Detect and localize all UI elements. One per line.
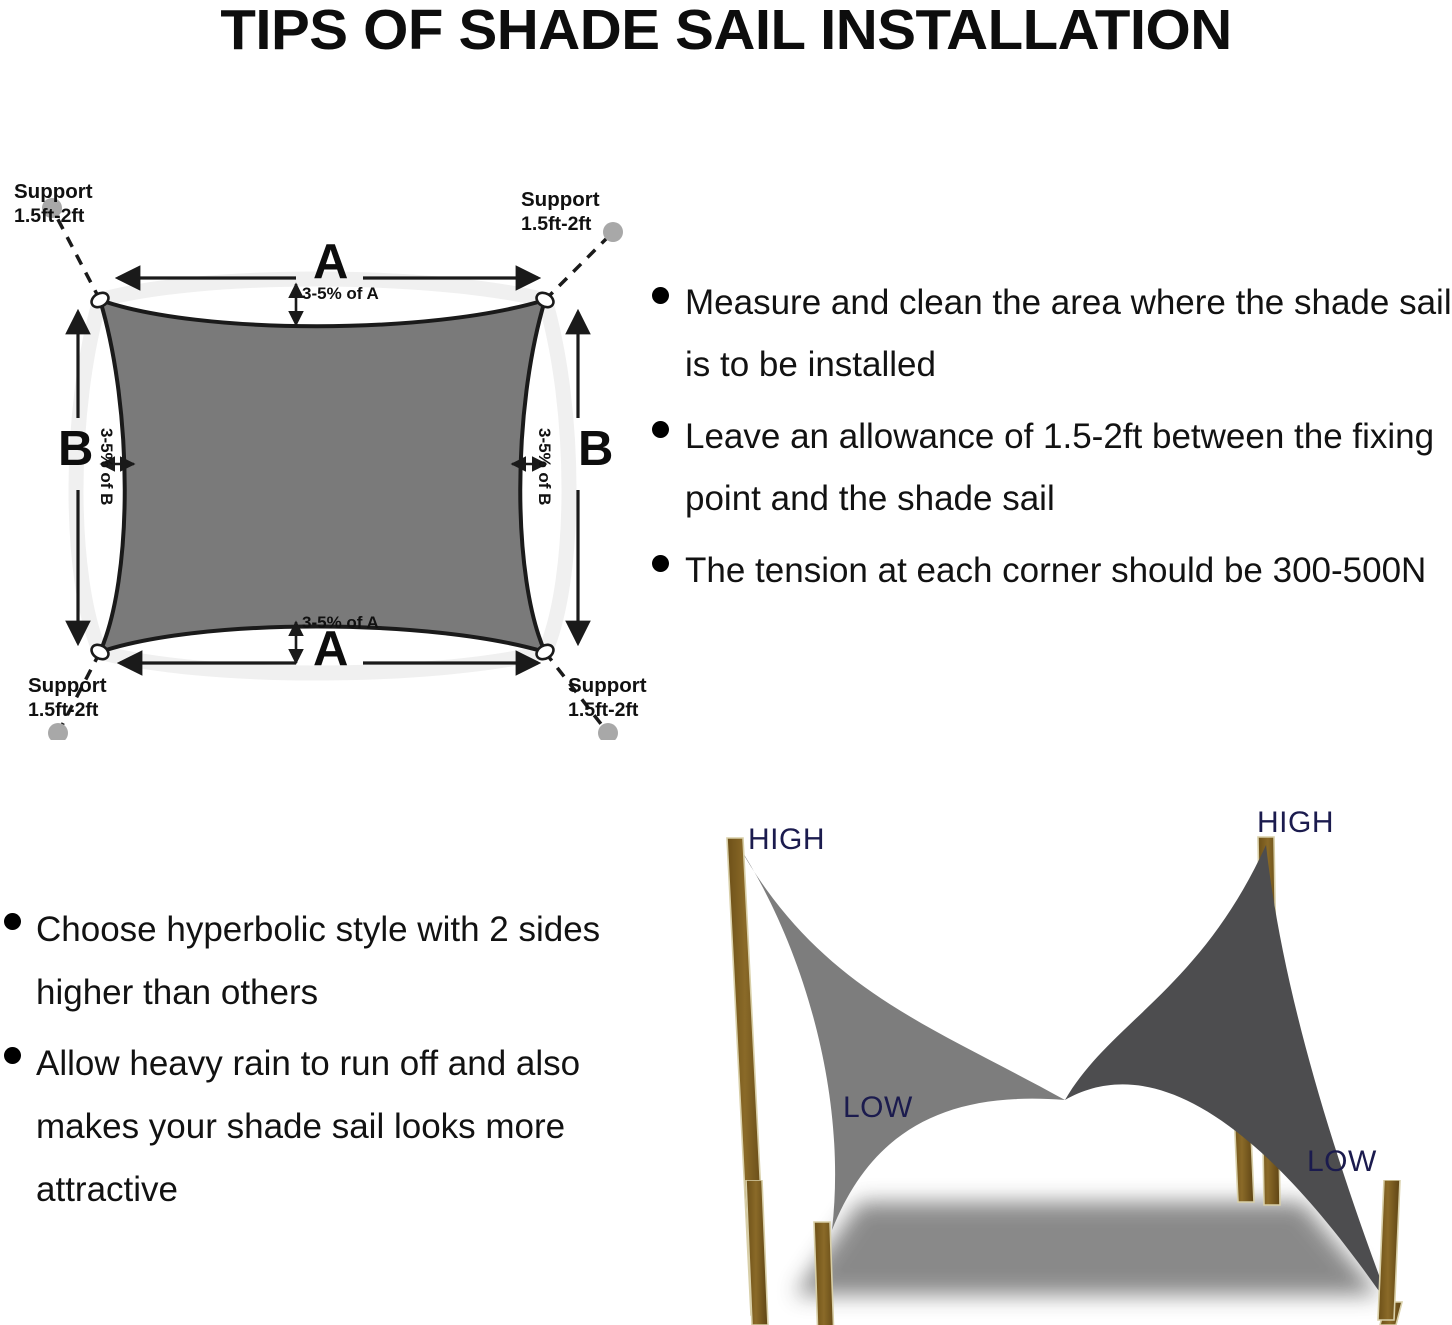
- dim-letter-b-right: B: [578, 425, 613, 474]
- list-item: Leave an allowance of 1.5-2ft between th…: [652, 406, 1452, 530]
- curve-note-bottom: 3-5% of A: [302, 614, 379, 632]
- list-item: Measure and clean the area where the sha…: [652, 272, 1452, 396]
- list-item: Allow heavy rain to run off and also mak…: [4, 1032, 634, 1221]
- hyperbolic-posts-extension: [680, 1180, 1452, 1325]
- support-label-line1: Support: [568, 674, 647, 697]
- tip-text: The tension at each corner should be 300…: [685, 540, 1426, 602]
- installation-tips-list: Measure and clean the area where the sha…: [652, 272, 1452, 612]
- curve-note-right: 3-5% of B: [535, 428, 553, 505]
- support-dot-top-right: [603, 222, 623, 242]
- bullet-icon: [652, 421, 669, 438]
- support-dot-bottom-left: [48, 723, 68, 740]
- sail-body: [100, 300, 545, 652]
- sail-panel-light: [738, 845, 1065, 1230]
- label-high-right: HIGH: [1257, 807, 1334, 839]
- bullet-icon: [652, 287, 669, 304]
- support-label-top-right: Support 1.5ft-2ft: [521, 188, 600, 236]
- dim-letter-a-top: A: [313, 238, 348, 287]
- support-label-line1: Support: [28, 674, 107, 697]
- hyperbolic-tips-list: Choose hyperbolic style with 2 sides hig…: [4, 898, 634, 1229]
- support-label-line2: 1.5ft-2ft: [568, 698, 647, 722]
- tip-text: Leave an allowance of 1.5-2ft between th…: [685, 406, 1452, 530]
- page-title: TIPS OF SHADE SAIL INSTALLATION: [0, 0, 1452, 62]
- support-label-line1: Support: [521, 188, 600, 211]
- support-label-line2: 1.5ft-2ft: [28, 698, 107, 722]
- post-high-left-lower: [746, 1180, 768, 1325]
- list-item: Choose hyperbolic style with 2 sides hig…: [4, 898, 634, 1024]
- bullet-icon: [4, 1047, 21, 1064]
- support-label-line1: Support: [14, 180, 93, 203]
- curve-note-top: 3-5% of A: [302, 285, 379, 303]
- dim-letter-a-bottom: A: [313, 625, 348, 674]
- tip-text: Choose hyperbolic style with 2 sides hig…: [36, 898, 634, 1024]
- label-low-right: LOW: [1307, 1146, 1377, 1178]
- support-label-line2: 1.5ft-2ft: [521, 212, 600, 236]
- post-low-right-lower: [1378, 1180, 1400, 1320]
- support-label-bottom-right: Support 1.5ft-2ft: [568, 674, 647, 722]
- list-item: The tension at each corner should be 300…: [652, 540, 1452, 602]
- tether-top-right: [545, 232, 613, 300]
- curve-note-left: 3-5% of B: [97, 428, 115, 505]
- label-low-left: LOW: [843, 1092, 913, 1124]
- bullet-icon: [4, 913, 21, 930]
- tip-text: Measure and clean the area where the sha…: [685, 272, 1452, 396]
- dim-letter-b-left: B: [58, 425, 93, 474]
- bullet-icon: [652, 555, 669, 572]
- label-high-left: HIGH: [748, 824, 825, 856]
- support-label-line2: 1.5ft-2ft: [14, 204, 93, 228]
- tip-text: Allow heavy rain to run off and also mak…: [36, 1032, 634, 1221]
- support-label-top-left: Support 1.5ft-2ft: [14, 180, 93, 228]
- support-label-bottom-left: Support 1.5ft-2ft: [28, 674, 107, 722]
- support-dot-bottom-right: [598, 723, 618, 740]
